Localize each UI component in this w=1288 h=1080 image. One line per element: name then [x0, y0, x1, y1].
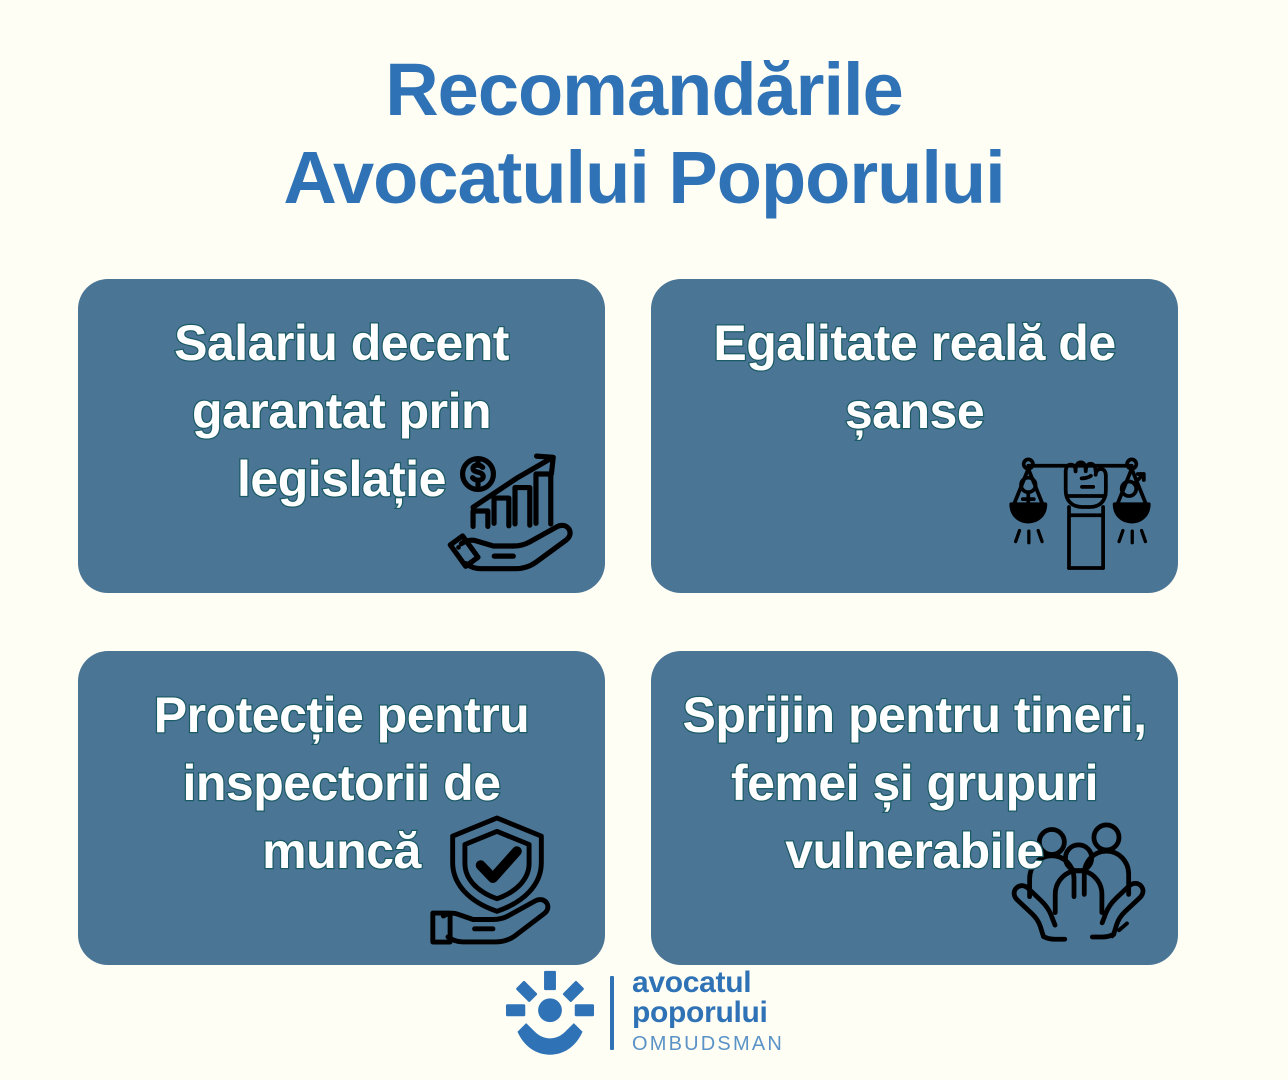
- logo-subtitle: OMBUDSMAN: [632, 1031, 784, 1057]
- page-title-line-2: Avocatului Poporului: [0, 134, 1288, 222]
- logo-wordmark: avocatul poporului OMBUDSMAN: [632, 968, 784, 1057]
- hand-holding-growth-chart-dollar-icon: [441, 437, 589, 585]
- hands-holding-people-group-icon: [1004, 813, 1152, 953]
- logo-name-line-1: avocatul: [632, 968, 784, 998]
- recommendation-card-label: Egalitate reală de șanse: [651, 309, 1178, 445]
- recommendation-card-egalitate-reala[interactable]: Egalitate reală de șanse: [651, 279, 1178, 593]
- recommendation-card-salariu-decent[interactable]: Salariu decent garantat prin legislație: [78, 279, 605, 593]
- logo-name-line-2: poporului: [632, 998, 784, 1028]
- ombudsman-sun-person-icon: [504, 969, 596, 1057]
- page-title-line-1: Recomandările: [0, 46, 1288, 134]
- ombudsman-logo: avocatul poporului OMBUDSMAN: [0, 968, 1288, 1057]
- recommendations-grid: Salariu decent garantat prin legislație: [78, 279, 1178, 965]
- logo-divider: [610, 976, 614, 1050]
- recommendation-card-protectie-inspectori[interactable]: Protecție pentru inspectorii de muncă: [78, 651, 605, 965]
- page-title: Recomandările Avocatului Poporului: [0, 46, 1288, 222]
- hand-holding-shield-check-icon: [427, 811, 567, 951]
- recommendation-card-sprijin-grupuri-vulnerabile[interactable]: Sprijin pentru tineri, femei și grupuri …: [651, 651, 1178, 965]
- fist-holding-gender-balance-scales-icon: [1004, 447, 1156, 579]
